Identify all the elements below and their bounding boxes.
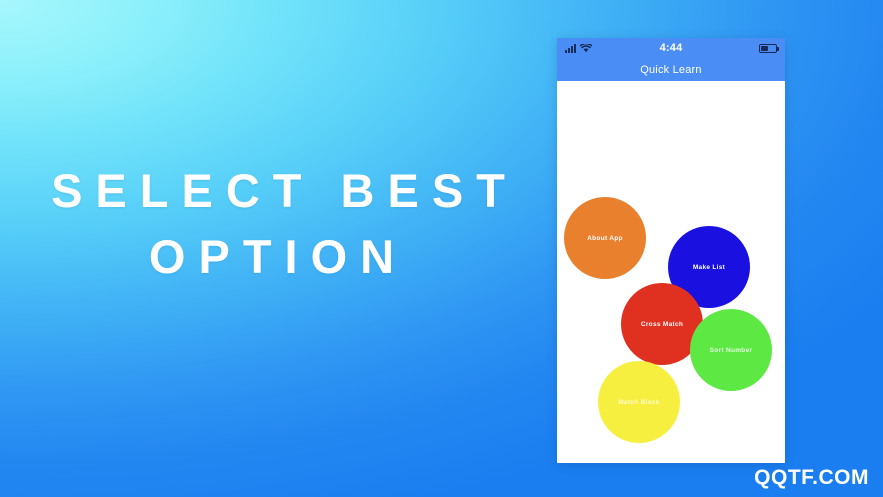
bubble-label: About App xyxy=(587,235,623,242)
bubble-option-match-block[interactable]: Match Block xyxy=(598,361,680,443)
bubble-option-sort-number[interactable]: Sort Number xyxy=(690,309,772,391)
bubble-label: Sort Number xyxy=(710,347,753,354)
app-title: Quick Learn xyxy=(640,64,702,76)
phone-app-bar: Quick Learn xyxy=(557,59,785,81)
page-title: SELECT BEST OPTION xyxy=(0,158,556,290)
phone-status-bar: 4:44 xyxy=(557,38,785,59)
status-bar-clock: 4:44 xyxy=(557,38,785,59)
phone-mockup: 4:44 Quick Learn About AppMake ListCross… xyxy=(557,38,785,463)
status-bar-right-icons xyxy=(759,44,777,53)
bubble-option-about-app[interactable]: About App xyxy=(564,197,646,279)
watermark: QQTF.COM xyxy=(754,466,869,490)
bubble-label: Match Block xyxy=(618,399,660,406)
promo-banner: SELECT BEST OPTION 4:44 xyxy=(0,0,883,497)
bubble-label: Cross Match xyxy=(641,321,683,328)
bubble-menu: About AppMake ListCross MatchSort Number… xyxy=(557,81,785,463)
bubble-label: Make List xyxy=(693,264,725,271)
battery-icon xyxy=(759,44,777,53)
